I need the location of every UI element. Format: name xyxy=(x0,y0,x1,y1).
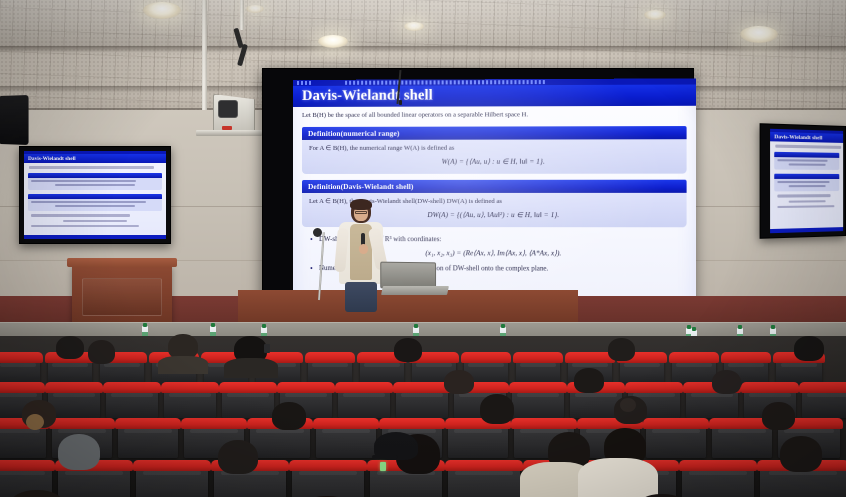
ceiling-downlight xyxy=(404,22,424,31)
nav-section-dots-right[interactable] xyxy=(345,80,547,85)
seat[interactable] xyxy=(58,466,130,497)
mini-text-line xyxy=(777,181,829,183)
mini-slide-footer xyxy=(24,235,166,239)
seat[interactable] xyxy=(222,388,274,418)
seat[interactable] xyxy=(682,466,754,497)
audience-head xyxy=(444,370,474,394)
mini-block-head xyxy=(28,173,162,178)
wall-speaker-left xyxy=(0,95,29,145)
mini-bullet-equation xyxy=(789,200,826,203)
block-heading: Definition(Davis-Wielandt shell) xyxy=(302,179,687,192)
mini-bullet-line xyxy=(31,225,139,227)
seat[interactable] xyxy=(118,424,178,458)
audience-phone-screen xyxy=(380,462,386,471)
lectern xyxy=(72,264,172,326)
block-body: For A ∈ B(H), the numerical range W(A) i… xyxy=(302,139,687,174)
audience-head xyxy=(394,338,422,362)
audience-head xyxy=(88,340,115,364)
mini-block-body xyxy=(774,179,839,192)
definition-block-numerical-range: Definition(numerical range) For A ∈ B(H)… xyxy=(302,126,687,174)
mini-text-line xyxy=(777,159,827,162)
presenter-laptop-screen[interactable] xyxy=(380,262,436,289)
auditorium-seating xyxy=(0,336,846,497)
mini-lead-line xyxy=(775,145,841,149)
block-heading: Definition(numerical range) xyxy=(302,126,687,140)
mini-bullet-line xyxy=(777,205,834,208)
seat[interactable] xyxy=(448,466,520,497)
projector-lens xyxy=(218,100,238,118)
mini-slide-footer xyxy=(770,227,843,233)
audience-head xyxy=(712,370,741,394)
mini-text-line xyxy=(31,180,136,182)
mini-equation-line xyxy=(55,205,134,207)
mini-equation-line xyxy=(55,184,134,186)
audience-shoulders xyxy=(158,356,208,374)
mini-lead-line xyxy=(29,166,154,169)
left-wall-monitor[interactable]: Davis-Wielandt shell xyxy=(19,146,171,244)
audience-cap xyxy=(374,432,418,460)
seat[interactable] xyxy=(164,388,216,418)
seat[interactable] xyxy=(0,358,40,384)
audience-head xyxy=(480,394,514,424)
audience-shoulders xyxy=(224,358,278,378)
audience-phone xyxy=(264,344,270,353)
audience-head xyxy=(574,368,604,393)
seat[interactable] xyxy=(292,466,364,497)
seat[interactable] xyxy=(106,388,158,418)
audience-head xyxy=(794,336,824,361)
ceiling-downlight xyxy=(740,26,778,43)
lectern-top-surface xyxy=(67,258,177,267)
mini-text-line xyxy=(31,201,146,203)
projector-drop-rod xyxy=(240,0,244,30)
seat[interactable] xyxy=(516,358,560,384)
right-wall-monitor[interactable]: Davis-Wielandt shell xyxy=(760,123,846,239)
presenter-legs xyxy=(345,282,377,312)
lecture-hall-scene: Davis-Wielandt shell Davis-Wielandt shel… xyxy=(0,0,846,497)
seat[interactable] xyxy=(316,424,376,458)
seat[interactable] xyxy=(776,358,822,384)
block-equation: W(A) = {⟨Au, u⟩ : u ∈ H, ‖u‖ = 1}. xyxy=(309,157,679,168)
seat[interactable] xyxy=(396,388,448,418)
audience-shoulders xyxy=(578,458,658,497)
ceiling-downlight xyxy=(644,10,666,20)
audience-hair-bun xyxy=(26,414,44,430)
microphone-head-icon xyxy=(313,228,322,237)
seat[interactable] xyxy=(802,388,846,418)
projector-indicator-light xyxy=(222,126,232,130)
mini-bullet-line xyxy=(31,214,130,216)
presenter-laptop-keyboard[interactable] xyxy=(381,286,449,295)
mini-bullet-equation xyxy=(63,220,127,222)
seat[interactable] xyxy=(620,358,664,384)
audience-head xyxy=(608,338,635,361)
nav-section-dots-left[interactable] xyxy=(297,81,313,85)
mini-slide-title: Davis-Wielandt shell xyxy=(770,132,843,143)
ceiling-band-front xyxy=(0,0,846,46)
seat[interactable] xyxy=(712,424,772,458)
mini-bullet-line xyxy=(777,194,830,197)
audience-head xyxy=(218,440,258,474)
cable-weight xyxy=(399,100,402,105)
seat[interactable] xyxy=(512,388,564,418)
audience-head xyxy=(272,402,306,430)
right-monitor-slide-mirror: Davis-Wielandt shell xyxy=(770,129,843,233)
seat[interactable] xyxy=(48,358,92,384)
seat[interactable] xyxy=(672,358,716,384)
mini-equation-line xyxy=(789,163,826,166)
seat[interactable] xyxy=(448,424,508,458)
presenter-hair xyxy=(350,199,372,210)
lectern-front-panel xyxy=(82,278,162,316)
ceiling-downlight xyxy=(246,5,264,13)
mini-equation-line xyxy=(789,185,826,187)
mini-block-body xyxy=(28,199,162,211)
audience-hair-bun xyxy=(620,398,636,412)
ceiling-downlight xyxy=(318,35,348,48)
audience-head xyxy=(762,402,795,430)
seat[interactable] xyxy=(136,466,208,497)
ceiling-seam-1 xyxy=(0,46,846,53)
slide-lead-text: Let B(H) be the space of all bounded lin… xyxy=(302,111,687,121)
seat[interactable] xyxy=(338,388,390,418)
audience-head xyxy=(780,436,822,472)
mini-block-body xyxy=(28,178,162,190)
mini-slide-title: Davis-Wielandt shell xyxy=(24,154,166,163)
seat[interactable] xyxy=(308,358,352,384)
block-text: For A ∈ B(H), the numerical range W(A) i… xyxy=(309,143,679,153)
seat[interactable] xyxy=(360,358,404,384)
slide-title-bar: Davis-Wielandt shell xyxy=(293,85,696,107)
projector-bracket-plate xyxy=(196,130,262,136)
audience-head xyxy=(58,434,100,470)
main-projection-screen[interactable]: Davis-Wielandt shell Let B(H) be the spa… xyxy=(262,68,694,323)
projector-support-pole xyxy=(202,0,207,118)
seat[interactable] xyxy=(646,424,706,458)
slide-title: Davis-Wielandt shell xyxy=(293,87,433,105)
left-monitor-slide-mirror: Davis-Wielandt shell xyxy=(24,151,166,239)
glasses-icon xyxy=(355,211,367,214)
ceiling-downlight xyxy=(143,2,181,19)
mini-block-body xyxy=(774,157,839,170)
audience-head xyxy=(56,336,84,359)
presenter-hand xyxy=(359,244,368,254)
